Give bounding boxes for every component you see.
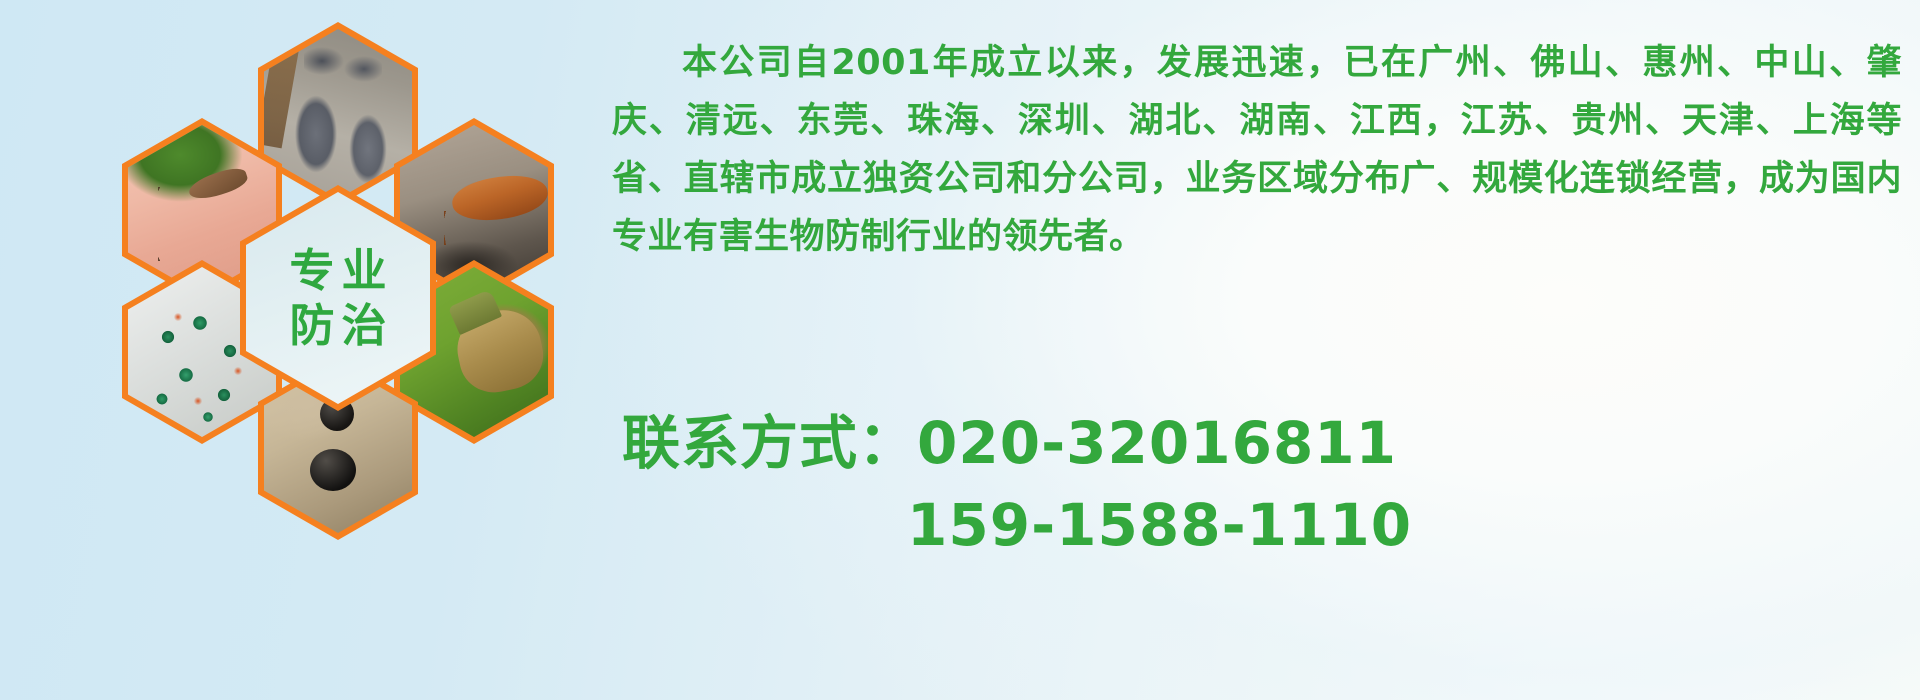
company-intro-paragraph: 本公司自2001年成立以来，发展迅速，已在广州、佛山、惠州、中山、肇庆、清远、东… (612, 34, 1902, 266)
contact-landline[interactable]: 020-32016811 (917, 409, 1397, 477)
rodents-photo-icon (264, 29, 412, 199)
contact-label: 联系方式： (622, 409, 917, 477)
slogan-line-1: 专业 (282, 248, 393, 293)
promo-banner: 专业 防治 本公司自2001年成立以来，发展迅速，已在广州、佛山、惠州、中山、肇… (0, 0, 1920, 700)
contact-line-primary: 联系方式：020-32016811 (622, 402, 1622, 484)
slogan-line-2: 防治 (282, 303, 393, 348)
company-intro-block: 本公司自2001年成立以来，发展迅速，已在广州、佛山、惠州、中山、肇庆、清远、东… (612, 34, 1902, 266)
hex-photo-rodents-inner (264, 29, 412, 199)
contact-mobile[interactable]: 159-1588-1110 (622, 484, 1622, 566)
contact-block: 联系方式：020-32016811 159-1588-1110 (622, 402, 1622, 566)
hex-slogan-inner: 专业 防治 (246, 192, 430, 404)
hexagon-photo-cluster: 专业 防治 (90, 0, 590, 570)
